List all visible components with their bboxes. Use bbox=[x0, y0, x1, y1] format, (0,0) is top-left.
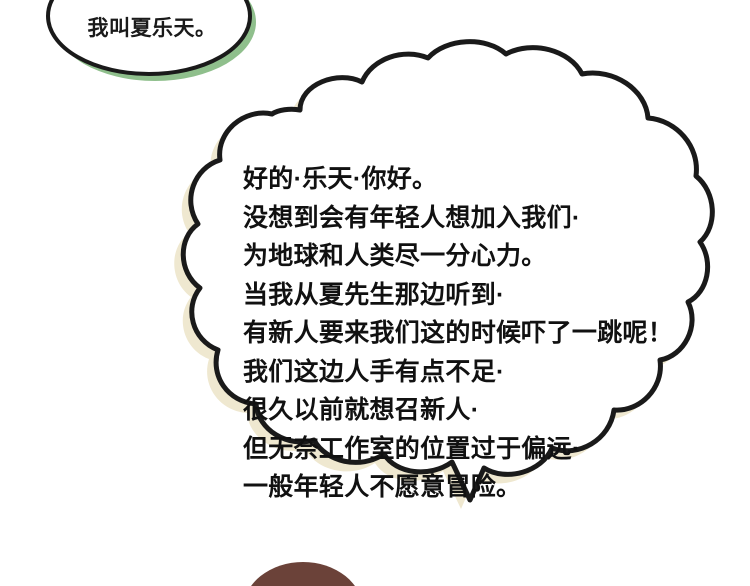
cloud-bubble-line-3: 为地球和人类尽一分心力。 bbox=[243, 237, 663, 276]
cloud-bubble-line-7: 很久以前就想召新人· bbox=[243, 391, 663, 430]
comic-panel: 我叫夏乐天。 好的·乐天·你好。 没想到会有年轻人想加入我们· 为地球和人类尽一… bbox=[0, 0, 750, 586]
cloud-bubble-line-9: 一般年轻人不愿意冒险。 bbox=[243, 468, 663, 507]
cloud-bubble-line-2: 没想到会有年轻人想加入我们· bbox=[243, 199, 663, 238]
cloud-bubble-line-1: 好的·乐天·你好。 bbox=[243, 160, 663, 199]
cloud-bubble-line-4: 当我从夏先生那边听到· bbox=[243, 276, 663, 315]
cloud-bubble-line-8: 但无奈工作室的位置过于偏远· bbox=[243, 430, 663, 469]
character-head-top bbox=[243, 562, 363, 586]
intro-bubble-text: 我叫夏乐天。 bbox=[62, 14, 242, 44]
cloud-bubble-line-5: 有新人要来我们这的时候吓了一跳呢！ bbox=[243, 314, 663, 353]
cloud-bubble-text: 好的·乐天·你好。 没想到会有年轻人想加入我们· 为地球和人类尽一分心力。 当我… bbox=[243, 160, 663, 507]
cloud-bubble-line-6: 我们这边人手有点不足· bbox=[243, 353, 663, 392]
